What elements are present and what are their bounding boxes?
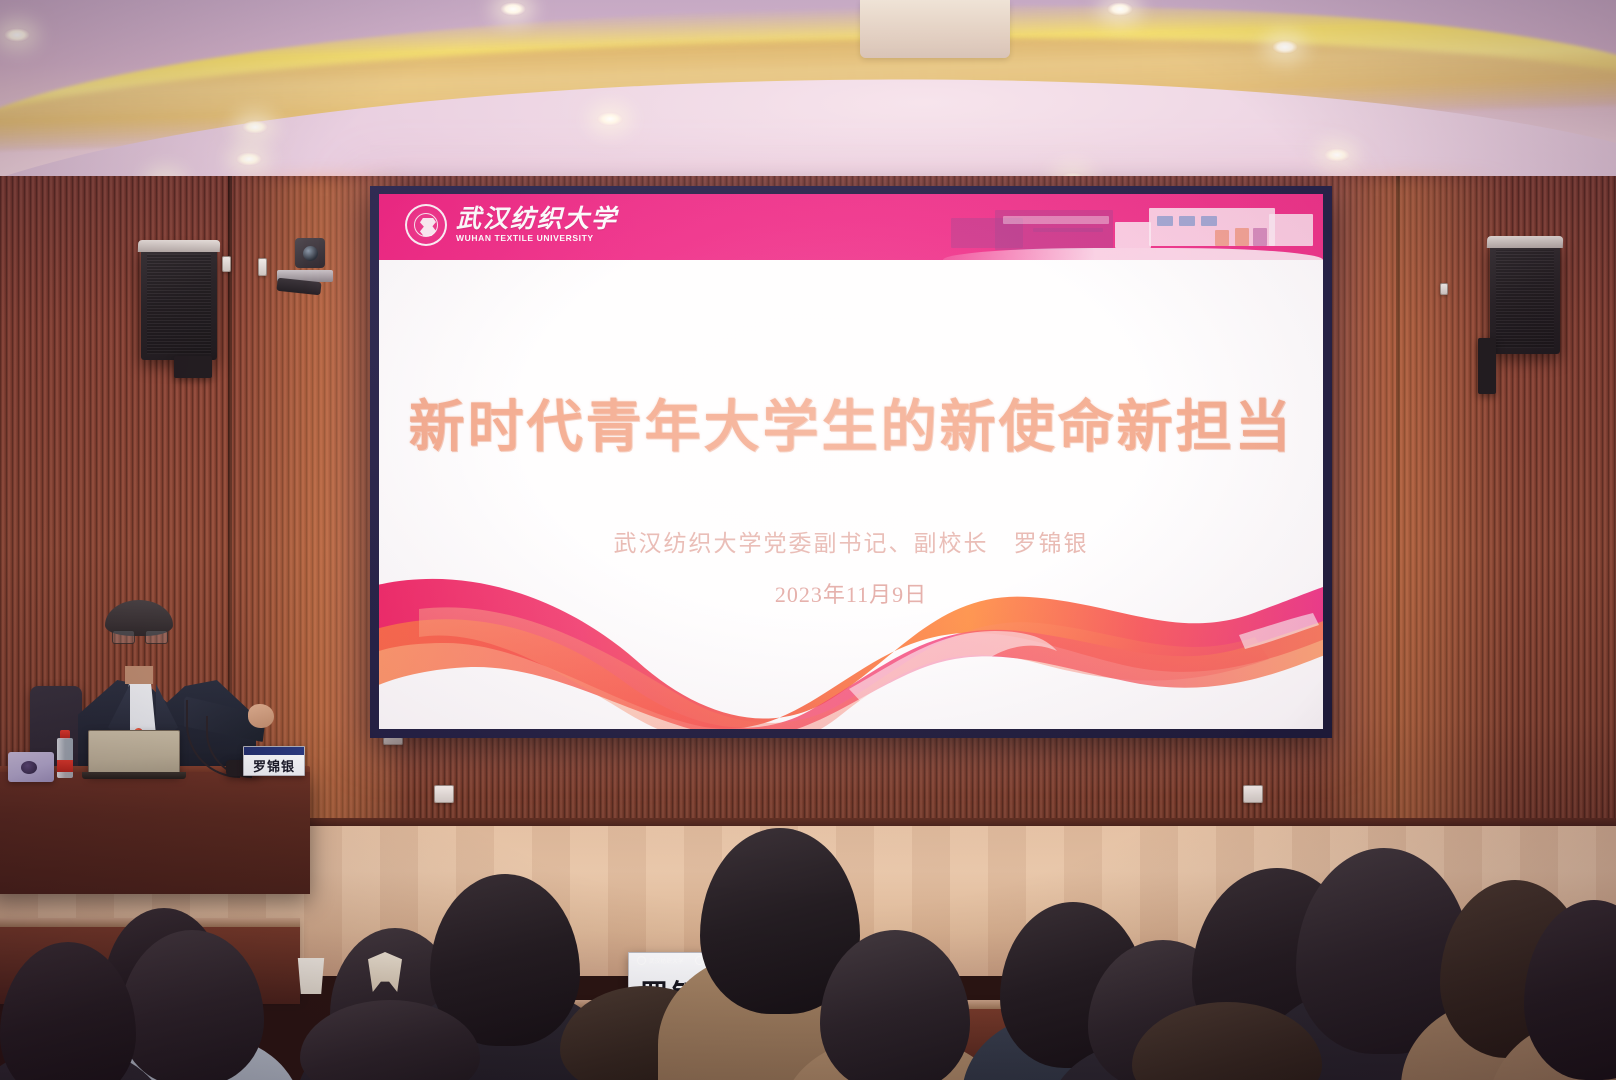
wall-speaker-icon: [141, 248, 217, 360]
wall-seam: [1396, 176, 1400, 856]
audience-member: [120, 930, 264, 1080]
speaker-top-cap: [138, 240, 220, 252]
wall-outlet-plate: [1243, 785, 1263, 803]
screen-control-plate[interactable]: [383, 737, 403, 745]
speaker-mount-bracket: [174, 356, 212, 378]
audience-head: [120, 930, 264, 1080]
projection-screen-frame: 武汉纺织大学 WUHAN TEXTILE UNIVERSITY: [370, 186, 1332, 738]
audience-head: [300, 1000, 480, 1080]
wall-outlet-plate: [222, 256, 231, 272]
nameplate-seal-icon: [637, 956, 646, 965]
wall-outlet-plate: [258, 258, 267, 276]
audience-head: [820, 930, 970, 1080]
audience-member: [820, 930, 970, 1080]
eyeglasses-icon: [112, 630, 168, 642]
ceiling: [0, 0, 1616, 200]
speaker-top-cap: [1487, 236, 1563, 248]
audience-member: [1132, 1002, 1322, 1080]
bottle-label: [57, 760, 73, 772]
audience-member: [300, 1000, 480, 1080]
wall-outlet-plate: [434, 785, 454, 803]
speaker-grille: [147, 254, 211, 354]
recessed-downlight-icon: [1272, 40, 1298, 54]
podium-nameplate: 罗锦银: [243, 746, 305, 776]
ceiling-duct: [860, 0, 1010, 58]
paper-cup-icon: [296, 958, 326, 994]
recessed-downlight-icon: [4, 28, 30, 42]
water-bottle-icon: [57, 730, 73, 778]
campus-photo-collage: [943, 194, 1323, 260]
red-silk-ribbon-graphic: [379, 539, 1323, 729]
camera-body: [295, 238, 325, 268]
projection-screen: 武汉纺织大学 WUHAN TEXTILE UNIVERSITY: [379, 194, 1323, 729]
audience-head: [1524, 900, 1616, 1080]
laptop-icon[interactable]: [88, 730, 180, 776]
bottle-body: [57, 738, 73, 778]
nameplate-logo-left: 武汉纺织大学: [637, 956, 684, 965]
recessed-downlight-icon: [1107, 2, 1133, 16]
nameplate-logo-label: 武汉纺织大学: [649, 957, 684, 965]
nameplate-header-bar: [244, 747, 304, 755]
university-seal-icon: [405, 204, 447, 246]
university-name-en: WUHAN TEXTILE UNIVERSITY: [456, 234, 618, 243]
slide-header-band: 武汉纺织大学 WUHAN TEXTILE UNIVERSITY: [379, 194, 1323, 260]
audience-member: [1524, 900, 1616, 1080]
recessed-downlight-icon: [500, 2, 526, 16]
lecture-hall-photo: 武汉纺织大学 WUHAN TEXTILE UNIVERSITY: [0, 0, 1616, 1080]
university-logo: 武汉纺织大学 WUHAN TEXTILE UNIVERSITY: [405, 204, 618, 246]
recessed-downlight-icon: [597, 112, 623, 126]
tissue-box-icon: [8, 752, 54, 782]
audience-member: [0, 942, 136, 1080]
audience-head: [1132, 1002, 1322, 1080]
audience-head: [0, 942, 136, 1080]
slide-title: 新时代青年大学生的新使命新担当: [379, 382, 1323, 463]
speaker-grille: [1496, 250, 1554, 348]
camera-lens: [303, 246, 318, 261]
recessed-downlight-icon: [242, 120, 268, 134]
recessed-downlight-icon: [1324, 148, 1350, 162]
speaker-mount-bracket: [1478, 338, 1496, 394]
university-name-cn: 武汉纺织大学: [456, 207, 618, 232]
wall-speaker-icon: [1490, 244, 1560, 354]
university-logo-text: 武汉纺织大学 WUHAN TEXTILE UNIVERSITY: [456, 207, 618, 243]
podium-desk: [0, 772, 310, 894]
ceiling-camera-icon: [277, 236, 333, 298]
recessed-downlight-icon: [236, 152, 262, 166]
podium-nameplate-text: 罗锦银: [244, 756, 304, 775]
laptop-base: [82, 772, 186, 779]
wall-outlet-plate: [1440, 283, 1448, 295]
